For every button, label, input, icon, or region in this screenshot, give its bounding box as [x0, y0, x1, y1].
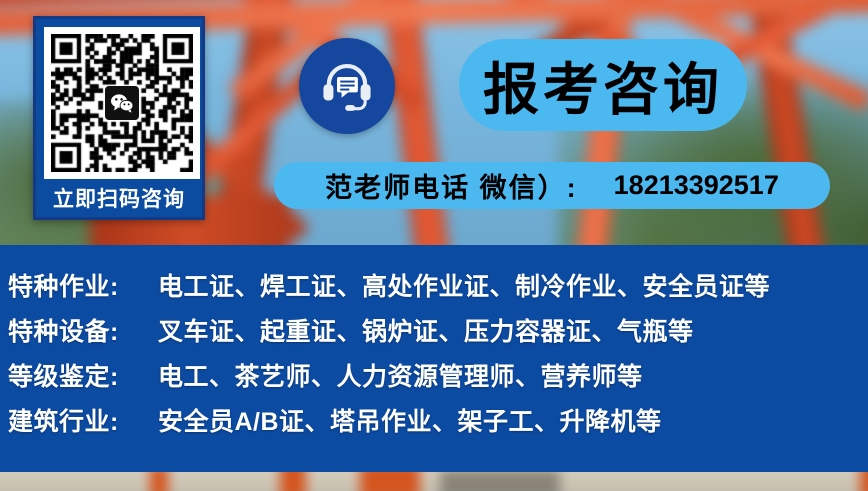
qr-caption: 立即扫码咨询: [44, 179, 194, 221]
headset-support-icon: [299, 38, 395, 134]
consultation-title-badge: 报考咨询: [459, 39, 747, 131]
category-row: 特种设备: 叉车证、起重证、锅炉证、压力容器证、气瓶等: [8, 312, 868, 357]
category-row: 特种作业: 电工证、焊工证、高处作业证、制冷作业、安全员证等: [8, 267, 868, 312]
category-value: 叉车证、起重证、锅炉证、压力容器证、气瓶等: [158, 312, 694, 348]
category-value: 电工、茶艺师、人力资源管理师、营养师等: [158, 357, 643, 393]
qr-code-card[interactable]: 立即扫码咨询: [33, 16, 205, 220]
consultation-title-text: 报考咨询: [483, 45, 723, 126]
bottom-object: [440, 470, 560, 491]
phone-badge[interactable]: 范老师电话 微信）: 18213392517: [274, 162, 830, 209]
category-row: 等级鉴定: 电工、茶艺师、人力资源管理师、营养师等: [8, 357, 868, 402]
qr-code-matrix: [51, 34, 193, 172]
category-label: 等级鉴定:: [8, 357, 158, 393]
qr-code-image[interactable]: [44, 27, 200, 179]
category-value: 电工证、焊工证、高处作业证、制冷作业、安全员证等: [158, 267, 770, 303]
promo-poster: 立即扫码咨询 报考咨询 范老师电话 微信）: 18213392517 特种作业:…: [0, 0, 868, 491]
category-row: 建筑行业: 安全员A/B证、塔吊作业、架子工、升降机等: [8, 402, 868, 447]
phone-number[interactable]: 18213392517: [614, 170, 779, 201]
category-label: 特种设备:: [8, 312, 158, 348]
category-label: 建筑行业:: [8, 402, 158, 438]
category-label: 特种作业:: [8, 267, 158, 303]
certificate-categories-panel: 特种作业: 电工证、焊工证、高处作业证、制冷作业、安全员证等 特种设备: 叉车证…: [0, 245, 868, 472]
wechat-logo-icon: [105, 86, 139, 120]
phone-label: 范老师电话 微信）:: [325, 166, 578, 205]
category-value: 安全员A/B证、塔吊作业、架子工、升降机等: [158, 402, 662, 438]
